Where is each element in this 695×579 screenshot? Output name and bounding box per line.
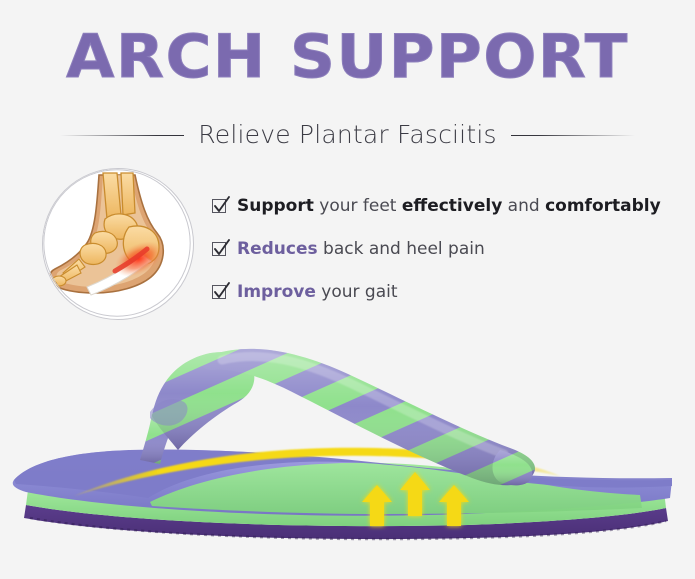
divider-line-right bbox=[511, 135, 635, 136]
feature-segment: your gait bbox=[316, 282, 398, 302]
checkbox-checked-icon[interactable] bbox=[212, 199, 226, 213]
list-item: Reduces back and heel pain bbox=[212, 237, 682, 280]
feature-list: Support your feet effectively and comfor… bbox=[212, 194, 682, 323]
feature-segment: Reduces bbox=[237, 239, 318, 259]
checkbox-checked-icon[interactable] bbox=[212, 285, 226, 299]
checkbox-checked-icon[interactable] bbox=[212, 242, 226, 256]
cuneiform-bone bbox=[80, 243, 106, 264]
feature-segment: comfortably bbox=[545, 196, 661, 216]
feature-segment: effectively bbox=[402, 196, 502, 216]
product-feature-poster: ARCH SUPPORT Relieve Plantar Fasciitis bbox=[0, 0, 695, 579]
list-item: Support your feet effectively and comfor… bbox=[212, 194, 682, 237]
feature-text-2: Reduces back and heel pain bbox=[237, 237, 485, 261]
feature-segment: back and heel pain bbox=[318, 239, 485, 259]
arch-support-flip-flop bbox=[0, 330, 695, 579]
list-item: Improve your gait bbox=[212, 280, 682, 323]
fibula-bone bbox=[121, 173, 135, 215]
subtitle-row: Relieve Plantar Fasciitis bbox=[60, 118, 635, 152]
page-subtitle: Relieve Plantar Fasciitis bbox=[198, 120, 496, 150]
feature-segment: Improve bbox=[237, 282, 316, 302]
divider-line-left bbox=[60, 135, 184, 136]
foot-anatomy-illustration bbox=[43, 169, 191, 317]
feature-text-3: Improve your gait bbox=[237, 280, 398, 304]
product-image bbox=[0, 330, 695, 579]
feature-segment: and bbox=[502, 196, 545, 216]
foot-anatomy-circle bbox=[42, 168, 194, 320]
page-title: ARCH SUPPORT bbox=[0, 26, 695, 88]
feature-text-1: Support your feet effectively and comfor… bbox=[237, 194, 661, 218]
feature-segment: Support bbox=[237, 196, 314, 216]
feature-segment: your feet bbox=[314, 196, 402, 216]
